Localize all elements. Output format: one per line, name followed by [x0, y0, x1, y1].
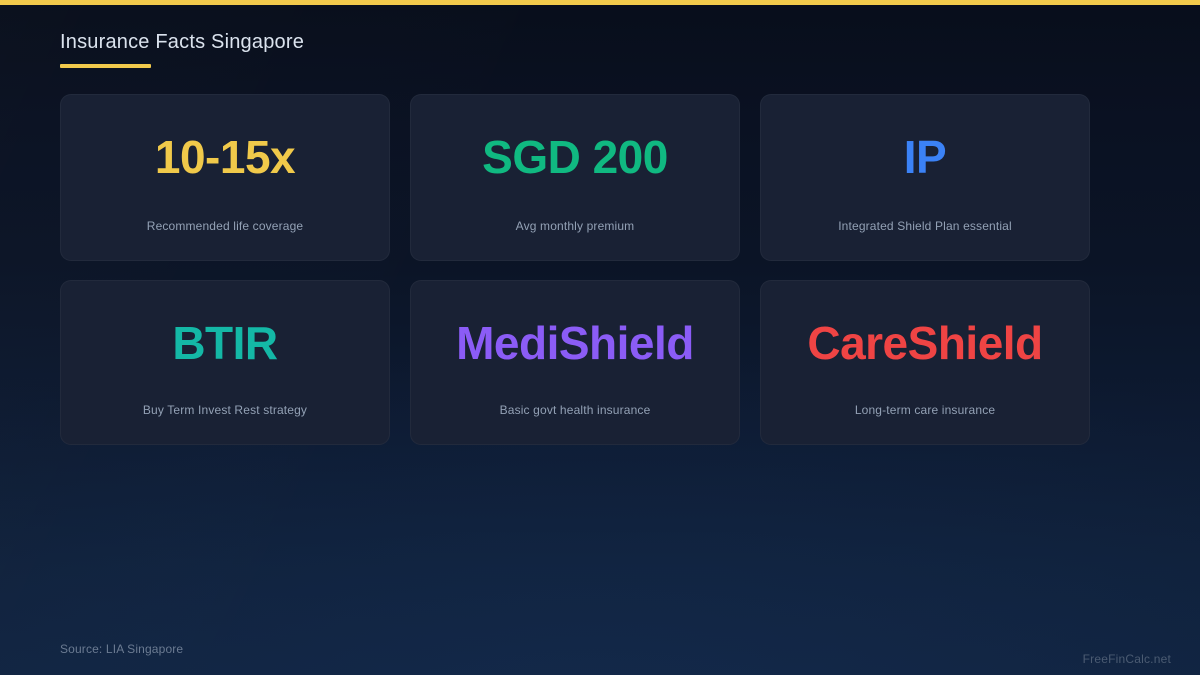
footer-source: Source: LIA Singapore: [60, 641, 183, 657]
stat-value: BTIR: [172, 281, 277, 366]
top-accent-bar: [0, 0, 1200, 5]
stat-card-life-coverage[interactable]: 10-15x Recommended life coverage: [60, 94, 390, 261]
page-title: Insurance Facts Singapore: [60, 29, 304, 55]
stat-label: Long-term care insurance: [761, 402, 1089, 418]
stat-value: MediShield: [456, 281, 694, 366]
stat-label: Recommended life coverage: [61, 218, 389, 234]
stat-value: SGD 200: [482, 95, 668, 180]
title-underline-accent: [60, 64, 151, 68]
stat-value: CareShield: [807, 281, 1042, 366]
stat-label: Basic govt health insurance: [411, 402, 739, 418]
stat-card-grid: 10-15x Recommended life coverage SGD 200…: [60, 94, 1090, 445]
stat-label: Avg monthly premium: [411, 218, 739, 234]
header: Insurance Facts Singapore: [60, 29, 304, 68]
stat-card-btir[interactable]: BTIR Buy Term Invest Rest strategy: [60, 280, 390, 445]
stat-value: 10-15x: [155, 95, 295, 180]
footer-watermark: FreeFinCalc.net: [1083, 651, 1171, 667]
stat-card-medishield[interactable]: MediShield Basic govt health insurance: [410, 280, 740, 445]
stat-value: IP: [904, 95, 946, 180]
stat-card-careshield[interactable]: CareShield Long-term care insurance: [760, 280, 1090, 445]
stat-label: Integrated Shield Plan essential: [761, 218, 1089, 234]
stat-label: Buy Term Invest Rest strategy: [61, 402, 389, 418]
stat-card-integrated-shield-plan[interactable]: IP Integrated Shield Plan essential: [760, 94, 1090, 261]
infographic-canvas: Insurance Facts Singapore 10-15x Recomme…: [0, 0, 1200, 675]
stat-card-monthly-premium[interactable]: SGD 200 Avg monthly premium: [410, 94, 740, 261]
